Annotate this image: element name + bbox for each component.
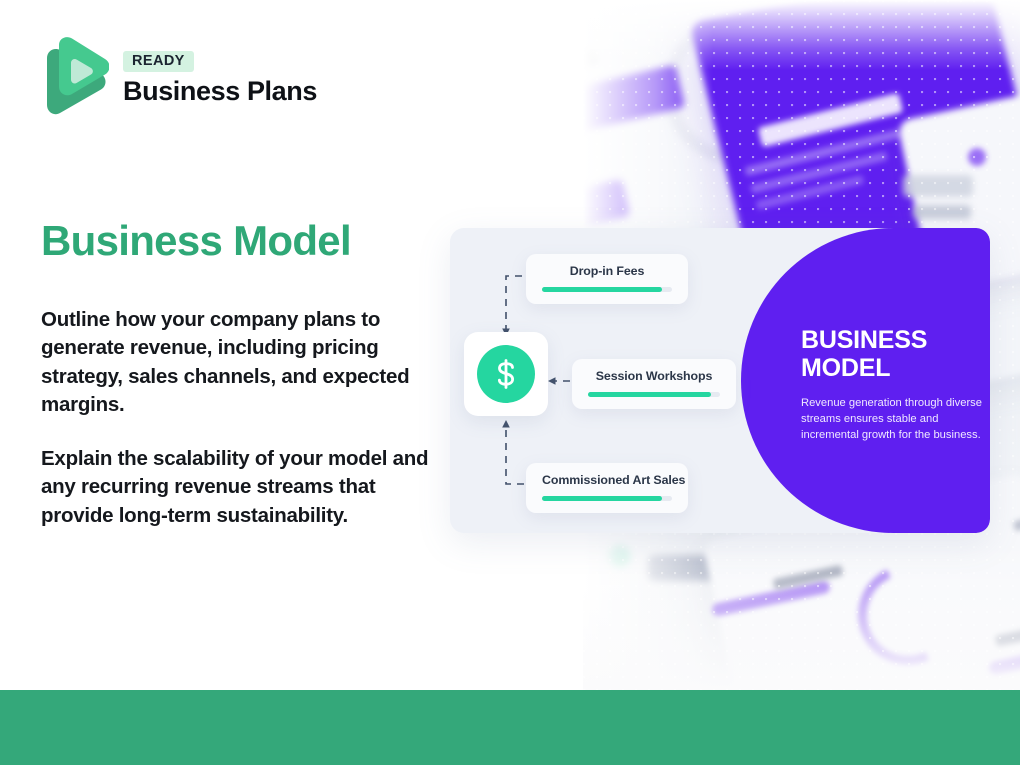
node-progress-track bbox=[542, 287, 672, 292]
page-title: Business Model bbox=[41, 218, 351, 264]
revenue-hub bbox=[464, 332, 548, 416]
panel-title-line-1: BUSINESS bbox=[801, 326, 927, 354]
panel-description: Revenue generation through diverse strea… bbox=[801, 396, 987, 444]
paragraph-2: Explain the scalability of your model an… bbox=[41, 445, 436, 530]
node-progress-track bbox=[588, 392, 720, 397]
dollar-sign-icon bbox=[477, 345, 535, 403]
bg-grey-text-1 bbox=[773, 565, 844, 590]
panel-title: BUSINESS MODEL bbox=[801, 326, 990, 382]
node-progress-track bbox=[542, 496, 672, 501]
bg-grey-chip-2 bbox=[913, 205, 971, 219]
bg-grey-text-3 bbox=[1013, 499, 1020, 532]
bg-purple-bar-3 bbox=[711, 580, 831, 618]
bg-grey-chip-3 bbox=[648, 555, 718, 581]
bg-sheet-b-line-3 bbox=[756, 175, 865, 210]
node-label: Session Workshops bbox=[588, 370, 720, 382]
body-copy: Outline how your company plans to genera… bbox=[41, 306, 436, 530]
bg-grey-chip-1 bbox=[903, 175, 973, 197]
node-progress-fill bbox=[542, 287, 662, 292]
footer-bar bbox=[0, 690, 1020, 765]
brand-name: Business Plans bbox=[123, 77, 317, 105]
node-progress-fill bbox=[542, 496, 662, 501]
diagram-node: Commissioned Art Sales bbox=[526, 463, 688, 513]
slide-root: READY Business Plans Business Model Outl… bbox=[0, 0, 1020, 765]
bg-donut-chart-purple bbox=[844, 551, 972, 679]
bg-donut-chart-green bbox=[984, 531, 1020, 670]
bg-fade-top bbox=[583, 0, 1020, 70]
node-label: Commissioned Art Sales bbox=[542, 474, 672, 486]
node-progress-fill bbox=[588, 392, 711, 397]
paragraph-1: Outline how your company plans to genera… bbox=[41, 306, 436, 419]
bg-text-block bbox=[583, 49, 598, 92]
bg-fade-bottom bbox=[583, 540, 1020, 690]
ready-badge: READY bbox=[123, 51, 194, 73]
diagram-node: Drop-in Fees bbox=[526, 254, 688, 304]
brand-logo: READY Business Plans bbox=[41, 36, 317, 120]
bg-purple-dot-1 bbox=[968, 148, 986, 166]
node-label: Drop-in Fees bbox=[542, 265, 672, 277]
bg-purple-bar-4 bbox=[988, 637, 1020, 676]
bg-purple-bar-1 bbox=[583, 64, 685, 155]
diagram-node: Session Workshops bbox=[572, 359, 736, 409]
bg-sheet-b-line-2 bbox=[750, 151, 888, 194]
panel-title-line-2: MODEL bbox=[801, 354, 890, 382]
brand-text: READY Business Plans bbox=[123, 51, 317, 106]
diagram-card: BUSINESS MODEL Revenue generation throug… bbox=[450, 228, 990, 533]
bg-sheet-b-title bbox=[758, 93, 904, 147]
bg-sheet-b-line-1 bbox=[744, 129, 901, 176]
play-triangle-logo-icon bbox=[41, 36, 109, 120]
bg-arc-decoration bbox=[638, 0, 837, 190]
bg-grey-text-2 bbox=[995, 620, 1020, 647]
bg-green-dot bbox=[608, 545, 630, 567]
